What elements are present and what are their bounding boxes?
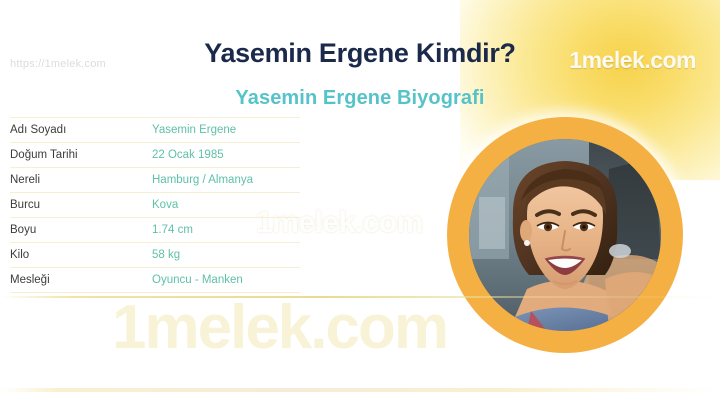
- bio-label: Kilo: [10, 249, 152, 261]
- bio-label: Nereli: [10, 174, 152, 186]
- bio-label: Doğum Tarihi: [10, 149, 152, 161]
- biography-card: 1melek.com 1melek.com https://1melek.com…: [0, 0, 720, 404]
- page-title: Yasemin Ergene Kimdir?: [0, 38, 720, 69]
- bottom-divider-line: [0, 388, 720, 392]
- table-row: MesleğiOyuncu - Manken: [10, 268, 300, 293]
- table-row: Adı SoyadıYasemin Ergene: [10, 117, 300, 143]
- bio-value: Oyuncu - Manken: [152, 274, 243, 286]
- table-row: NereliHamburg / Almanya: [10, 168, 300, 193]
- table-row: Doğum Tarihi22 Ocak 1985: [10, 143, 300, 168]
- background-watermark: 1melek.com: [112, 292, 447, 363]
- bio-value: Yasemin Ergene: [152, 124, 236, 136]
- bio-value: 58 kg: [152, 249, 180, 261]
- table-row: Boyu1.74 cm: [10, 218, 300, 243]
- avatar: [469, 139, 661, 331]
- bio-label: Boyu: [10, 224, 152, 236]
- biography-table: Adı SoyadıYasemin ErgeneDoğum Tarihi22 O…: [10, 117, 300, 293]
- portrait-ring: [447, 117, 683, 353]
- table-row: Kilo58 kg: [10, 243, 300, 268]
- bio-value: 22 Ocak 1985: [152, 149, 224, 161]
- bio-value: Kova: [152, 199, 178, 211]
- portrait-photo: [469, 139, 661, 331]
- bio-label: Mesleği: [10, 274, 152, 286]
- bio-label: Adı Soyadı: [10, 124, 152, 136]
- page-subtitle: Yasemin Ergene Biyografi: [0, 87, 720, 110]
- bio-value: Hamburg / Almanya: [152, 174, 253, 186]
- bio-value: 1.74 cm: [152, 224, 193, 236]
- table-row: BurcuKova: [10, 193, 300, 218]
- bio-label: Burcu: [10, 199, 152, 211]
